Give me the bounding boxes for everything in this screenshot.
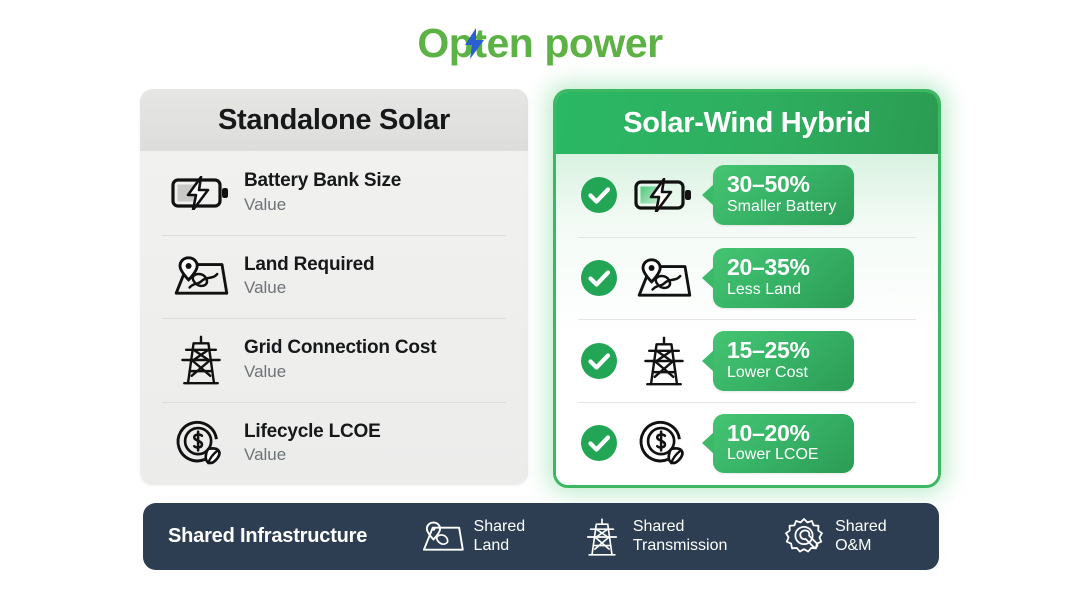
standalone-solar-header: Standalone Solar: [140, 89, 528, 151]
benefit-row-battery: 30–50% Smaller Battery: [572, 154, 922, 237]
benefit-label: Less Land: [727, 281, 839, 300]
shared-item-label: Shared Land: [474, 518, 526, 555]
map-pin-land-icon: [162, 255, 240, 297]
metric-value: Value: [244, 444, 381, 465]
benefit-row-lcoe: 10–20% Lower LCOE: [572, 402, 922, 485]
map-pin-land-icon: [421, 520, 465, 553]
shared-item-transmission: Shared Transmission: [580, 517, 728, 557]
metric-text-grid: Grid Connection Cost Value: [240, 337, 436, 382]
benefit-badge: 30–50% Smaller Battery: [713, 165, 854, 225]
metric-label: Battery Bank Size: [244, 170, 401, 192]
metric-text-battery: Battery Bank Size Value: [240, 170, 401, 215]
transmission-tower-icon: [162, 334, 240, 386]
shared-item-label: Shared O&M: [835, 518, 887, 555]
benefit-label: Smaller Battery: [727, 198, 839, 217]
benefit-percent: 30–50%: [727, 172, 839, 197]
metric-value: Value: [244, 277, 374, 298]
map-pin-land-icon: [626, 257, 702, 299]
gear-wrench-icon: [782, 516, 826, 558]
check-circle-icon: [572, 424, 626, 462]
solar-wind-hybrid-card: Solar-Wind Hybrid: [553, 89, 941, 488]
shared-item-label: Shared Transmission: [633, 518, 728, 555]
shared-item-om: Shared O&M: [782, 516, 887, 558]
transmission-tower-icon: [580, 517, 624, 557]
benefit-row-land: 20–35% Less Land: [572, 237, 922, 320]
solar-wind-hybrid-title: Solar-Wind Hybrid: [623, 107, 871, 140]
metric-label: Land Required: [244, 254, 374, 276]
metric-value: Value: [244, 194, 401, 215]
dollar-leaf-icon: [162, 416, 240, 470]
check-circle-icon: [572, 259, 626, 297]
solar-wind-hybrid-header: Solar-Wind Hybrid: [556, 92, 938, 154]
shared-infrastructure-title: Shared Infrastructure: [168, 525, 367, 548]
benefit-badge: 10–20% Lower LCOE: [713, 414, 854, 474]
logo-word-power: power: [544, 20, 662, 66]
logo-word-opten: Opten: [417, 20, 533, 66]
benefit-row-grid: 15–25% Lower Cost: [572, 319, 922, 402]
standalone-solar-title: Standalone Solar: [218, 104, 450, 137]
benefit-badge: 15–25% Lower Cost: [713, 331, 854, 391]
standalone-solar-card: Standalone Solar Battery Bank Size Value: [140, 89, 528, 485]
metric-value: Value: [244, 361, 436, 382]
benefit-label: Lower LCOE: [727, 446, 839, 465]
benefit-percent: 15–25%: [727, 338, 839, 363]
benefit-percent: 20–35%: [727, 255, 839, 280]
benefit-percent: 10–20%: [727, 421, 839, 446]
dollar-leaf-icon: [626, 416, 702, 470]
brand-logo: Optenpower: [0, 14, 1080, 72]
comparison-cards: Standalone Solar Battery Bank Size Value: [0, 89, 1080, 489]
shared-infrastructure-bar: Shared Infrastructure Shared Land: [143, 503, 939, 570]
transmission-tower-icon: [626, 335, 702, 387]
benefit-badge: 20–35% Less Land: [713, 248, 854, 308]
metric-label: Lifecycle LCOE: [244, 421, 381, 443]
metric-text-lcoe: Lifecycle LCOE Value: [240, 421, 381, 466]
shared-item-land: Shared Land: [421, 518, 526, 555]
logo-text: Optenpower: [417, 23, 662, 64]
shared-infrastructure-items: Shared Land: [367, 516, 914, 558]
battery-bolt-icon: [162, 176, 240, 210]
battery-bolt-icon: [626, 178, 702, 212]
benefit-label: Lower Cost: [727, 364, 839, 383]
metric-label: Grid Connection Cost: [244, 337, 436, 359]
metric-row-grid: Grid Connection Cost Value: [162, 318, 506, 402]
check-circle-icon: [572, 342, 626, 380]
standalone-solar-body: Battery Bank Size Value Land Required: [140, 151, 528, 485]
metric-row-lcoe: Lifecycle LCOE Value: [162, 402, 506, 486]
check-circle-icon: [572, 176, 626, 214]
metric-row-land: Land Required Value: [162, 235, 506, 319]
metric-text-land: Land Required Value: [240, 254, 374, 299]
solar-wind-hybrid-body: 30–50% Smaller Battery: [556, 154, 938, 485]
metric-row-battery: Battery Bank Size Value: [162, 151, 506, 235]
